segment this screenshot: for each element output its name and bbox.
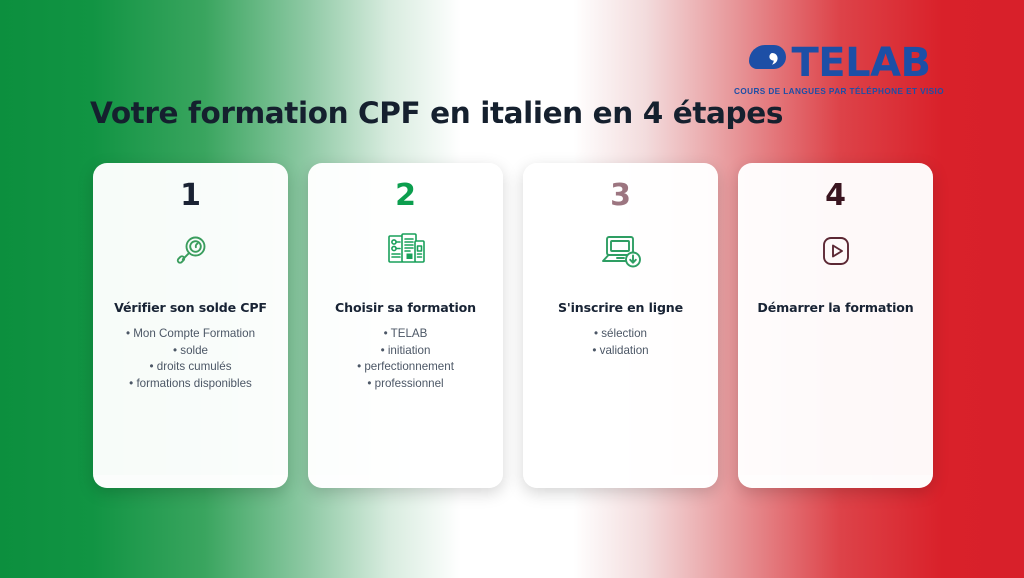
list-item: Mon Compte Formation bbox=[126, 326, 255, 343]
step-card-3-footer-bar bbox=[523, 475, 718, 488]
list-item: solde bbox=[126, 343, 255, 360]
step-card-1-body: 1 Vérifier son solde CPF Mon Compte Form… bbox=[93, 180, 288, 392]
step-bullets-3: sélection validation bbox=[592, 326, 648, 359]
step-card-4[interactable]: 4 Démarrer la formation bbox=[738, 163, 933, 488]
infographic-canvas: TELAB COURS DE LANGUES PAR TÉLÉPHONE ET … bbox=[0, 0, 1024, 578]
step-bullets-2: TELAB initiation perfectionnement profes… bbox=[357, 326, 454, 392]
steps-container: 1 Vérifier son solde CPF Mon Compte Form… bbox=[93, 163, 933, 488]
list-item: initiation bbox=[357, 343, 454, 360]
list-item: formations disponibles bbox=[126, 376, 255, 393]
step-number-3: 3 bbox=[610, 180, 631, 212]
step-number-4: 4 bbox=[825, 180, 846, 212]
list-item: droits cumulés bbox=[126, 359, 255, 376]
step-card-2-footer-bar bbox=[308, 475, 503, 488]
step-card-4-footer-bar bbox=[738, 475, 933, 488]
logo-tagline: COURS DE LANGUES PAR TÉLÉPHONE ET VISIO bbox=[734, 87, 944, 96]
step-card-3[interactable]: 3 S'inscrire en ligne sélection validati… bbox=[523, 163, 718, 488]
list-item: sélection bbox=[592, 326, 648, 343]
documents-certificates-icon bbox=[380, 228, 432, 274]
list-item: perfectionnement bbox=[357, 359, 454, 376]
list-item: TELAB bbox=[357, 326, 454, 343]
list-item: validation bbox=[592, 343, 648, 360]
step-card-1-footer-bar bbox=[93, 475, 288, 488]
step-card-4-body: 4 Démarrer la formation bbox=[738, 180, 933, 326]
logo-lockup: TELAB bbox=[747, 42, 930, 84]
step-bullets-1: Mon Compte Formation solde droits cumulé… bbox=[126, 326, 255, 392]
step-number-1: 1 bbox=[180, 180, 201, 212]
step-title-3: S'inscrire en ligne bbox=[558, 300, 683, 315]
play-button-icon bbox=[810, 228, 862, 274]
magnifier-search-icon bbox=[165, 228, 217, 274]
step-card-2-body: 2 Choisir sa formation bbox=[308, 180, 503, 392]
step-title-4: Démarrer la formation bbox=[757, 300, 913, 315]
step-card-3-body: 3 S'inscrire en ligne sélection validati… bbox=[523, 180, 718, 359]
speech-bubble-icon bbox=[747, 43, 787, 83]
step-title-1: Vérifier son solde CPF bbox=[114, 300, 267, 315]
list-item: professionnel bbox=[357, 376, 454, 393]
step-title-2: Choisir sa formation bbox=[335, 300, 476, 315]
step-card-1[interactable]: 1 Vérifier son solde CPF Mon Compte Form… bbox=[93, 163, 288, 488]
telab-logo: TELAB COURS DE LANGUES PAR TÉLÉPHONE ET … bbox=[734, 42, 944, 100]
step-number-2: 2 bbox=[395, 180, 416, 212]
laptop-download-icon bbox=[595, 228, 647, 274]
page-title: Votre formation CPF en italien en 4 étap… bbox=[90, 96, 783, 130]
logo-wordmark: TELAB bbox=[791, 43, 930, 83]
step-card-2[interactable]: 2 Choisir sa formation bbox=[308, 163, 503, 488]
